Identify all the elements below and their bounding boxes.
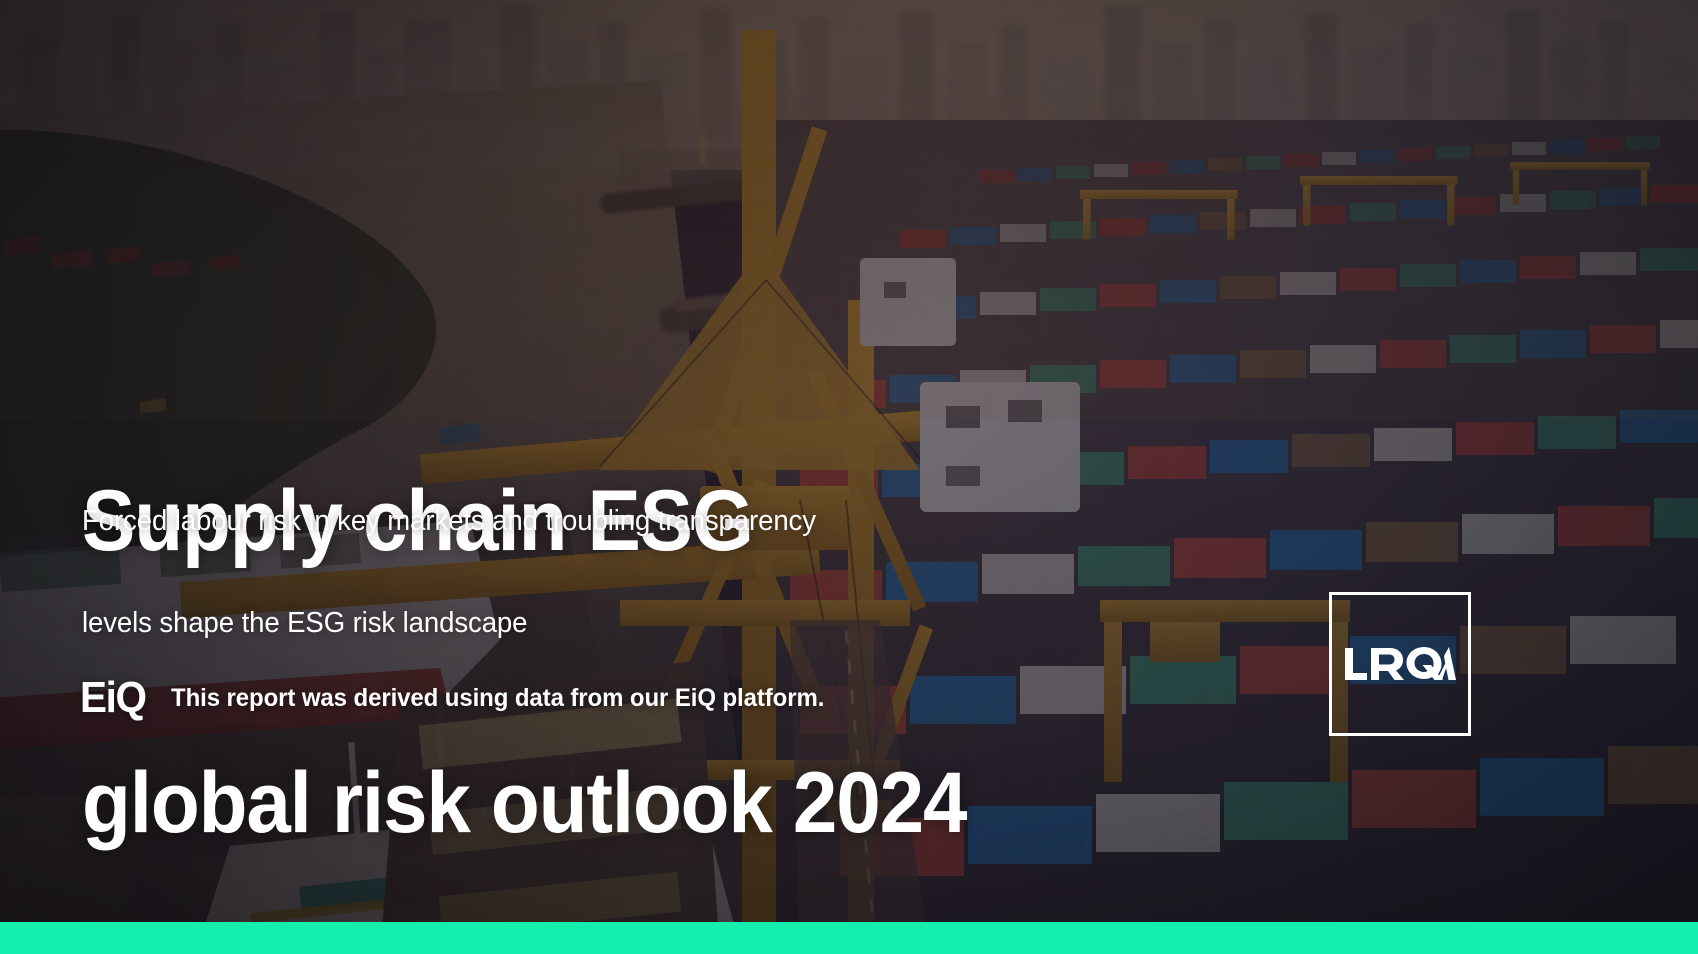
page-title-line-2: global risk outlook 2024 [82, 756, 966, 850]
page-subtitle: Forced labour risk in key markets and tr… [82, 436, 816, 708]
accent-bar [0, 922, 1698, 954]
lrqa-logo [1329, 592, 1471, 736]
page-subtitle-line-2: levels shape the ESG risk landscape [82, 606, 816, 640]
report-cover-page: Supply chain ESG global risk outlook 202… [0, 0, 1698, 954]
eiq-attribution-text: This report was derived using data from … [171, 684, 824, 712]
page-subtitle-line-1: Forced labour risk in key markets and tr… [82, 504, 816, 538]
eiq-logo: EiQ [80, 676, 146, 720]
eiq-attribution: EiQ This report was derived using data f… [80, 676, 852, 720]
